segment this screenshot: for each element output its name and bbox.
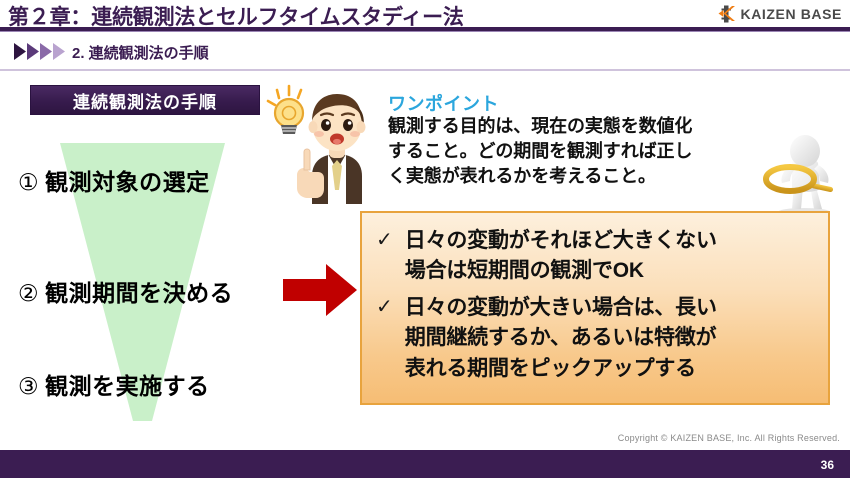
3d-figure-with-magnifier-icon [762,133,846,217]
step-label-1: 観測対象の選定 [45,169,210,195]
step-number-2: ② [18,280,39,306]
check-mark-icon: ✓ [376,230,393,250]
step-label-2: 観測期間を決める [45,280,233,306]
onepoint-body: 観測する目的は、現在の実態を数値化 すること。どの期間を観測すれば正し く実態が… [388,114,760,188]
step-item-1: ①観測対象の選定 [18,163,210,197]
check-mark-icon: ✓ [376,297,393,317]
steps-banner-label: 連続観測法の手順 [73,88,217,113]
check-item-1: ✓ 日々の変動がそれほど大きくない 場合は短期間の観測でOK [376,226,717,287]
step-number-1: ① [18,169,39,195]
brand-logo: KAIZEN BASE [717,3,843,25]
check-item-1-text: 日々の変動がそれほど大きくない 場合は短期間の観測でOK [405,226,717,287]
step-item-3: ③観測を実施する [18,367,210,401]
footer-bar [0,450,850,478]
subtitle-divider [0,69,850,71]
copyright-text: Copyright © KAIZEN BASE, Inc. All Rights… [618,433,840,443]
step-item-2: ②観測期間を決める [18,274,233,308]
brand-logo-text: KAIZEN BASE [741,6,843,22]
page-number: 36 [821,458,834,472]
check-item-2-line-2: 期間継続するか、あるいは特徴が [405,323,717,353]
businessman-pointing-with-lightbulb-icon [264,84,386,204]
step-number-3: ③ [18,373,39,399]
slide-root: 第２章：連続観測法とセルフタイムスタディー法 KAIZEN BASE 2. 連続… [0,0,850,478]
onepoint-title: ワンポイント [388,90,499,116]
onepoint-line-3: く実態が表れるかを考えること。 [388,164,760,189]
kaizen-base-logo-icon [717,4,737,24]
triple-chevron-right-icon [14,42,66,61]
steps-banner: 連続観測法の手順 [30,85,260,115]
check-item-1-line-1: 日々の変動がそれほど大きくない [405,226,717,256]
check-item-2-line-1: 日々の変動が大きい場合は、長い [405,293,717,323]
check-item-1-line-2: 場合は短期間の観測でOK [405,256,717,286]
step-label-3: 観測を実施する [45,373,210,399]
onepoint-line-1: 観測する目的は、現在の実態を数値化 [388,114,760,139]
check-item-2: ✓ 日々の変動が大きい場合は、長い 期間継続するか、あるいは特徴が 表れる期間を… [376,293,717,384]
key-points-box: ✓ 日々の変動がそれほど大きくない 場合は短期間の観測でOK ✓ 日々の変動が大… [360,211,830,405]
check-item-2-text: 日々の変動が大きい場合は、長い 期間継続するか、あるいは特徴が 表れる期間をピッ… [405,293,717,384]
header-divider-thin [0,31,850,32]
onepoint-line-2: すること。どの期間を観測すれば正し [388,139,760,164]
subtitle-text: 2. 連続観測法の手順 [72,42,209,63]
red-right-arrow-icon [283,262,358,318]
check-item-2-line-3: 表れる期間をピックアップする [405,354,717,384]
